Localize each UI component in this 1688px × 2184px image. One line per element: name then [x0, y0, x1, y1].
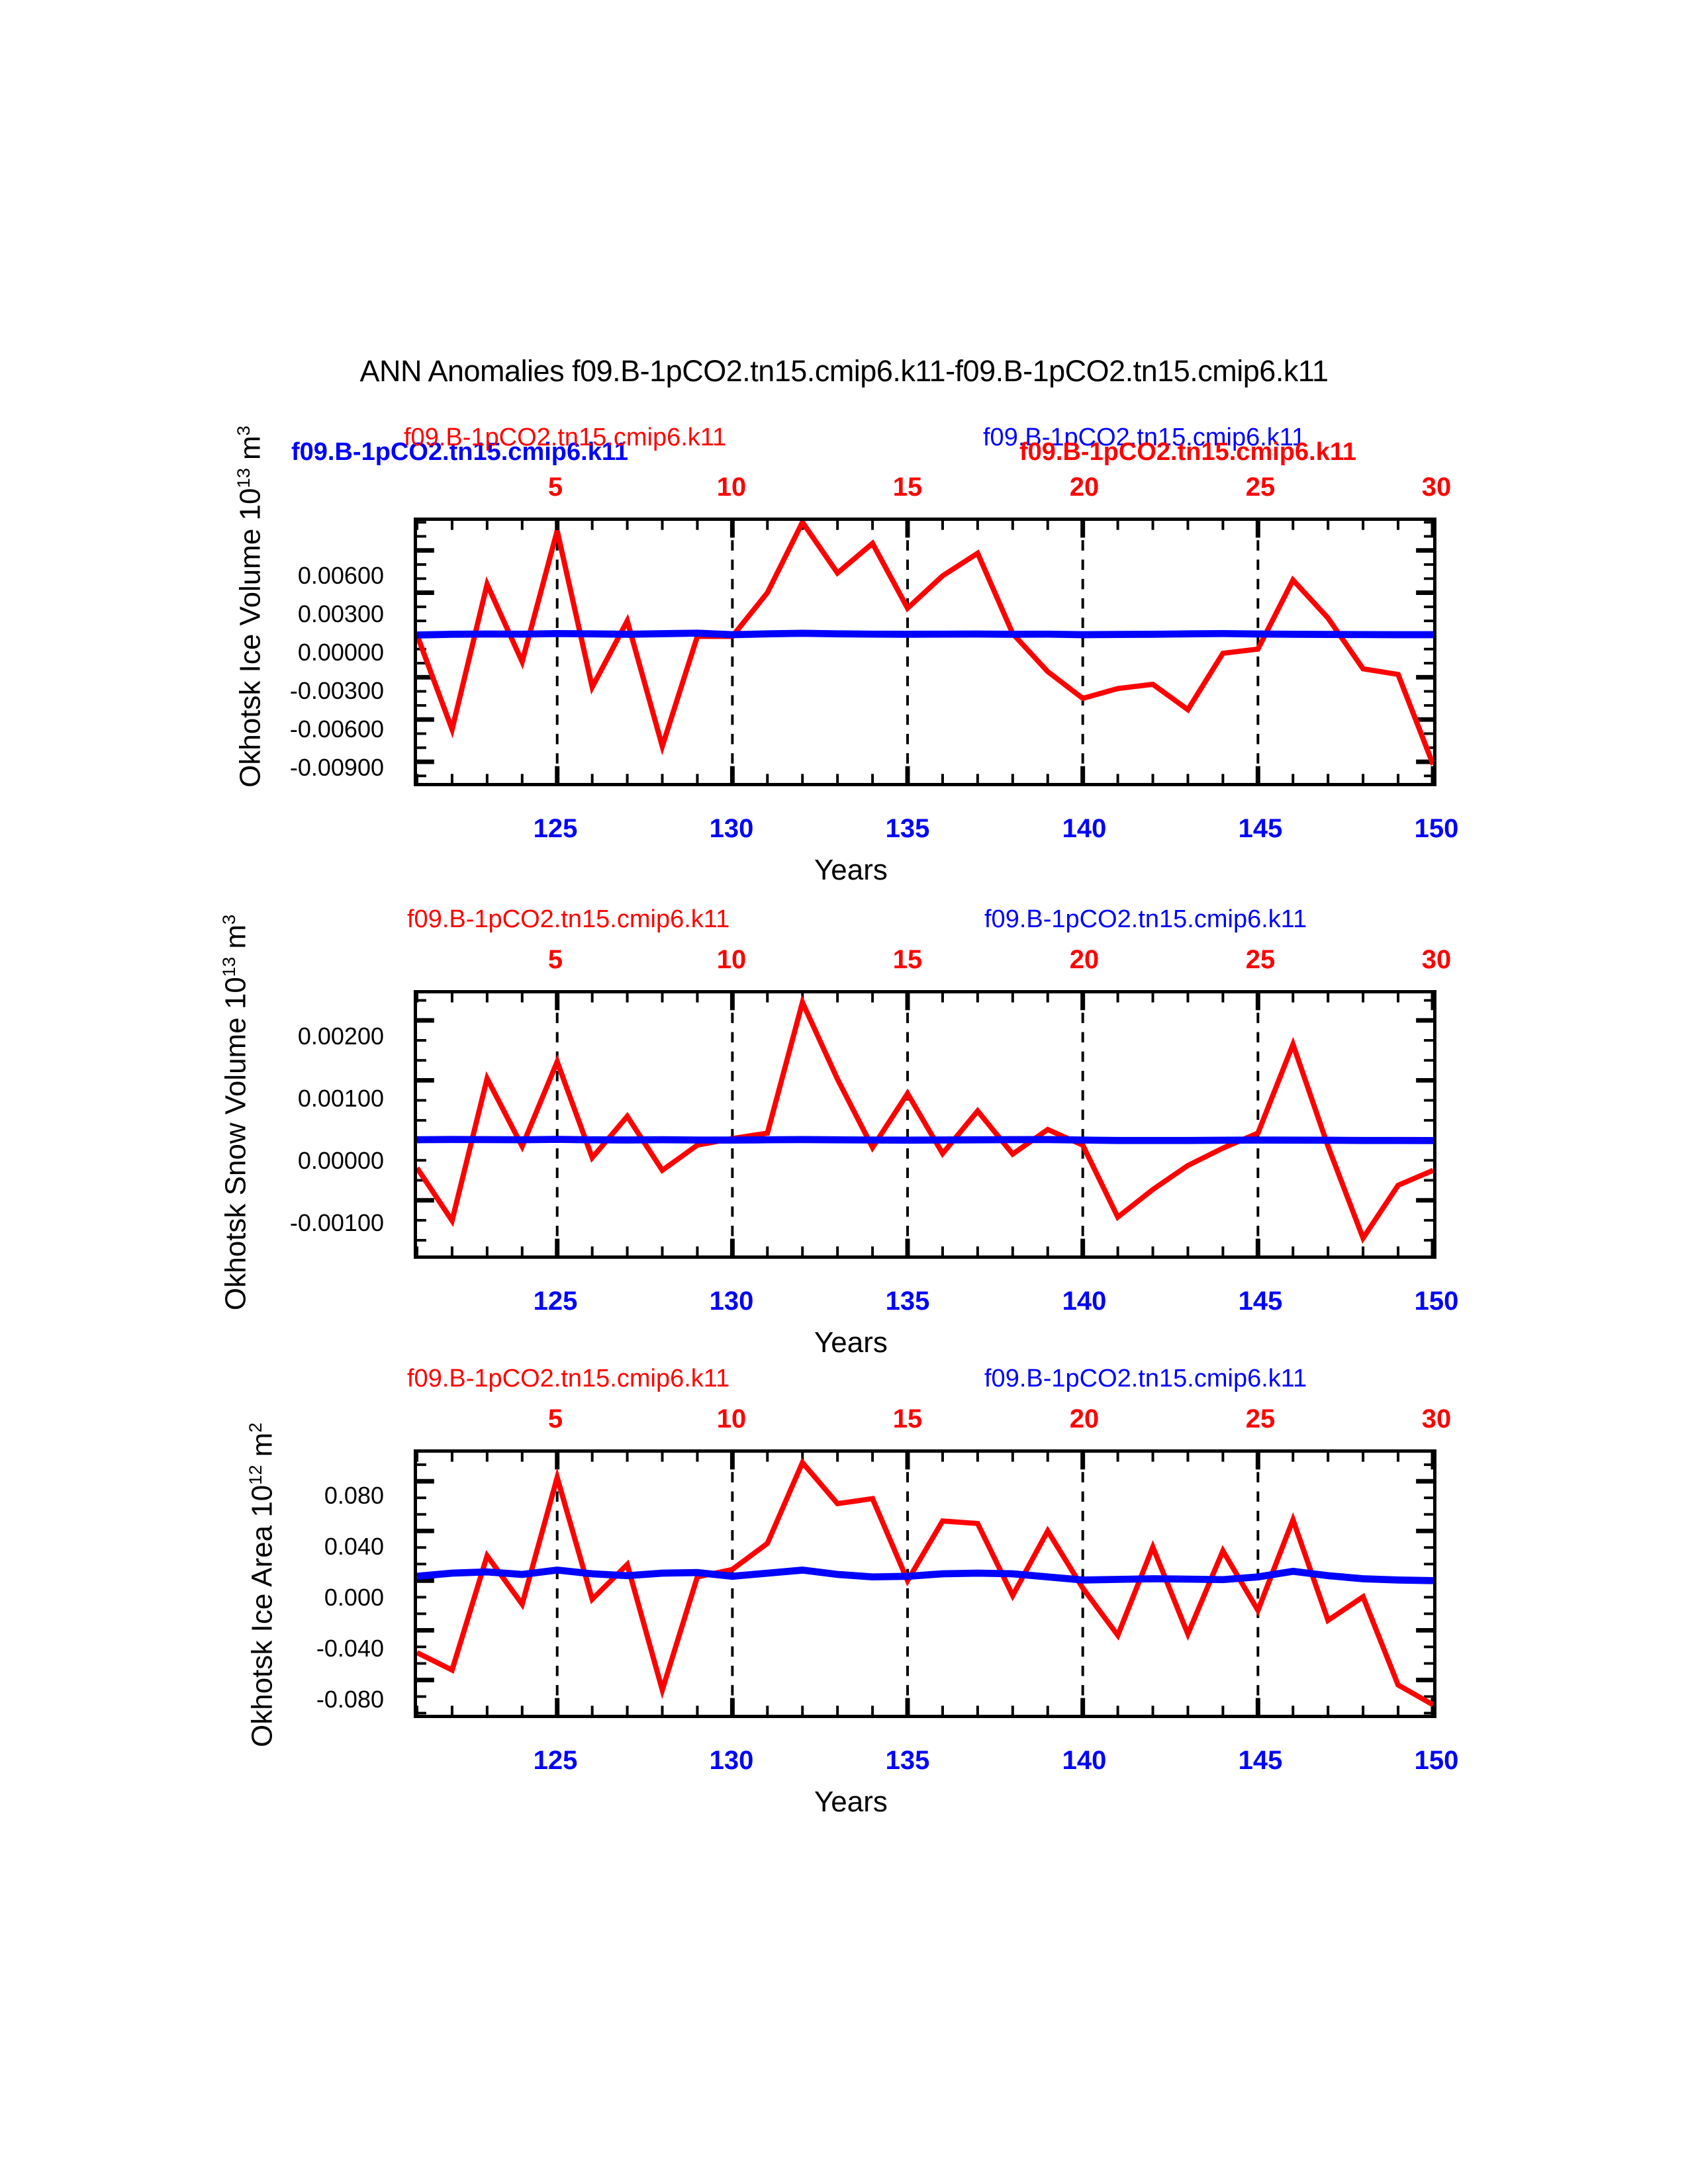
y-tick: 0.00100 [298, 1085, 384, 1113]
x-top-tick: 5 [548, 473, 563, 502]
x-bottom-tick: 135 [886, 814, 930, 844]
x-bottom-tick: 145 [1239, 814, 1283, 844]
x-bottom-tick: 125 [534, 1746, 578, 1776]
x-top-tick: 15 [893, 1404, 923, 1434]
y-axis-title-exp-p2: 13 [218, 957, 239, 977]
y-axis-title-unit-exp-p1: 3 [233, 426, 254, 435]
x-bottom-tick: 140 [1062, 1287, 1107, 1316]
x-top-tick: 30 [1422, 945, 1452, 975]
series-label-red-right-p1: f09.B-1pCO2.tn15.cmip6.k11 [1019, 438, 1356, 467]
x-axis-title-p1: Years [814, 854, 888, 887]
x-bottom-tick: 140 [1062, 814, 1107, 844]
x-axis-title-p2: Years [814, 1326, 888, 1359]
y-tick: -0.040 [316, 1635, 384, 1662]
y-axis-title-unit-p1: m [234, 435, 267, 468]
series-label-red-p2: f09.B-1pCO2.tn15.cmip6.k11 [407, 905, 729, 934]
y-axis-title-exp-p1: 13 [233, 468, 254, 488]
y-tick: 0.080 [324, 1482, 384, 1510]
x-top-tick: 10 [717, 945, 747, 975]
x-bottom-tick: 150 [1415, 1287, 1459, 1316]
series-label-blue-p2: f09.B-1pCO2.tn15.cmip6.k11 [984, 905, 1307, 934]
plot-area-p2 [414, 990, 1436, 1259]
y-axis-title-exp-p3: 12 [245, 1465, 265, 1484]
x-bottom-tick: 125 [534, 1287, 578, 1316]
x-top-tick: 15 [893, 945, 923, 975]
x-top-tick: 30 [1422, 473, 1452, 502]
y-axis-title-text-p2: Okhotsk Snow Volume 10 [220, 977, 252, 1310]
y-axis-title-text-p1: Okhotsk Ice Volume 10 [234, 488, 267, 788]
x-top-tick: 25 [1246, 945, 1276, 975]
x-top-tick: 5 [548, 945, 563, 975]
y-tick: 0.00000 [298, 1147, 384, 1175]
series-label-red-p3: f09.B-1pCO2.tn15.cmip6.k11 [407, 1365, 729, 1393]
y-axis-title-unit-exp-p3: 2 [245, 1422, 265, 1432]
y-tick: 0.00600 [298, 562, 384, 590]
x-bottom-tick: 130 [710, 1746, 754, 1776]
x-bottom-tick: 125 [534, 814, 578, 844]
x-top-tick: 20 [1070, 1404, 1100, 1434]
x-bottom-tick: 135 [886, 1287, 930, 1316]
series-label-blue-p3: f09.B-1pCO2.tn15.cmip6.k11 [984, 1365, 1307, 1393]
y-axis-title-p2: Okhotsk Snow Volume 1013 m3 [218, 915, 253, 1310]
x-top-tick: 5 [548, 1404, 563, 1434]
plot-svg-p3 [417, 1453, 1433, 1715]
y-axis-title-unit-p2: m [220, 925, 252, 957]
y-tick: -0.00300 [290, 677, 384, 705]
x-bottom-tick: 135 [886, 1746, 930, 1776]
y-tick: -0.080 [316, 1686, 384, 1713]
plot-svg-p1 [417, 521, 1433, 783]
y-tick: 0.040 [324, 1533, 384, 1561]
y-tick: 0.00200 [298, 1023, 384, 1050]
y-axis-title-unit-p3: m [246, 1433, 279, 1465]
plot-area-p1 [414, 518, 1436, 786]
x-bottom-tick: 130 [710, 814, 754, 844]
y-tick: 0.00000 [298, 639, 384, 666]
x-top-tick: 25 [1246, 1404, 1276, 1434]
y-tick: 0.000 [324, 1584, 384, 1612]
x-top-tick: 10 [717, 1404, 747, 1434]
page-title: ANN Anomalies f09.B-1pCO2.tn15.cmip6.k11… [0, 354, 1688, 388]
plot-area-p3 [414, 1449, 1436, 1718]
x-top-tick: 20 [1070, 945, 1100, 975]
x-top-tick: 30 [1422, 1404, 1452, 1434]
y-axis-title-p3: Okhotsk Ice Area 1012 m2 [245, 1422, 279, 1747]
plot-svg-p2 [417, 993, 1433, 1255]
x-top-tick: 25 [1246, 473, 1276, 502]
y-axis-title-unit-exp-p2: 3 [218, 915, 239, 925]
y-tick: -0.00600 [290, 715, 384, 743]
x-bottom-tick: 140 [1062, 1746, 1107, 1776]
x-bottom-tick: 145 [1239, 1746, 1283, 1776]
x-top-tick: 20 [1070, 473, 1100, 502]
x-top-tick: 10 [717, 473, 747, 502]
figure-page: ANN Anomalies f09.B-1pCO2.tn15.cmip6.k11… [0, 0, 1688, 2184]
series-label-red-left-p1: f09.B-1pCO2.tn15.cmip6.k11 [404, 424, 726, 452]
x-bottom-tick: 150 [1415, 1746, 1459, 1776]
x-bottom-tick: 130 [710, 1287, 754, 1316]
y-axis-title-p1: Okhotsk Ice Volume 1013 m3 [233, 426, 267, 788]
y-tick: 0.00300 [298, 600, 384, 628]
x-bottom-tick: 145 [1239, 1287, 1283, 1316]
x-top-tick: 15 [893, 473, 923, 502]
x-bottom-tick: 150 [1415, 814, 1459, 844]
y-tick: -0.00100 [290, 1209, 384, 1237]
y-tick: -0.00900 [290, 754, 384, 782]
x-axis-title-p3: Years [814, 1786, 888, 1819]
y-axis-title-text-p3: Okhotsk Ice Area 10 [246, 1485, 279, 1747]
